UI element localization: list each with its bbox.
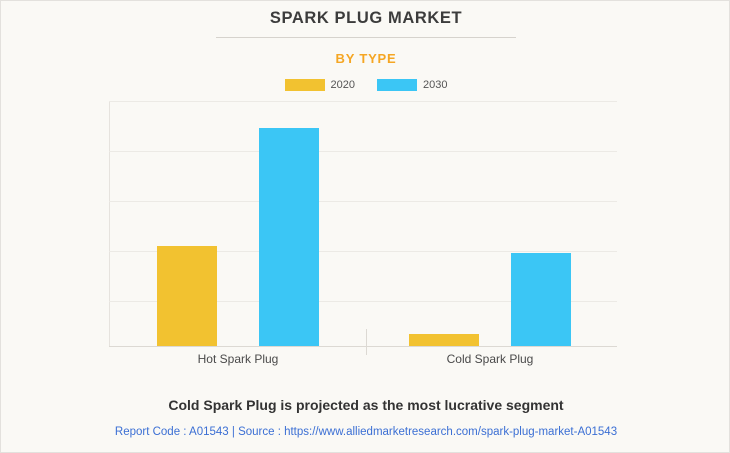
legend-item-2030[interactable]: 2030 [377,79,447,91]
category-separator-tick [366,329,367,355]
chart-subtitle: BY TYPE [1,51,730,66]
x-axis-label-cold-spark-plug: Cold Spark Plug [370,352,610,366]
gridline [109,201,617,202]
chart-legend: 2020 2030 [1,79,730,91]
plot-area [109,101,617,346]
legend-label-2030: 2030 [423,79,447,91]
bar-hot-spark-plug-2030[interactable] [259,128,319,346]
legend-swatch-2030 [377,79,417,91]
x-axis-label-hot-spark-plug: Hot Spark Plug [118,352,358,366]
title-divider [216,37,516,38]
legend-label-2020: 2020 [331,79,355,91]
bar-hot-spark-plug-2020[interactable] [157,246,217,346]
gridline [109,101,617,102]
bar-cold-spark-plug-2030[interactable] [511,253,571,346]
x-axis-line [109,346,617,347]
chart-caption: Cold Spark Plug is projected as the most… [1,397,730,413]
chart-card: SPARK PLUG MARKET BY TYPE 2020 2030 Hot … [0,0,730,453]
report-source-link[interactable]: Report Code : A01543 | Source : https://… [1,426,730,438]
legend-swatch-2020 [285,79,325,91]
gridline [109,151,617,152]
legend-item-2020[interactable]: 2020 [285,79,355,91]
bar-cold-spark-plug-2020[interactable] [409,334,479,346]
page-title: SPARK PLUG MARKET [1,9,730,28]
